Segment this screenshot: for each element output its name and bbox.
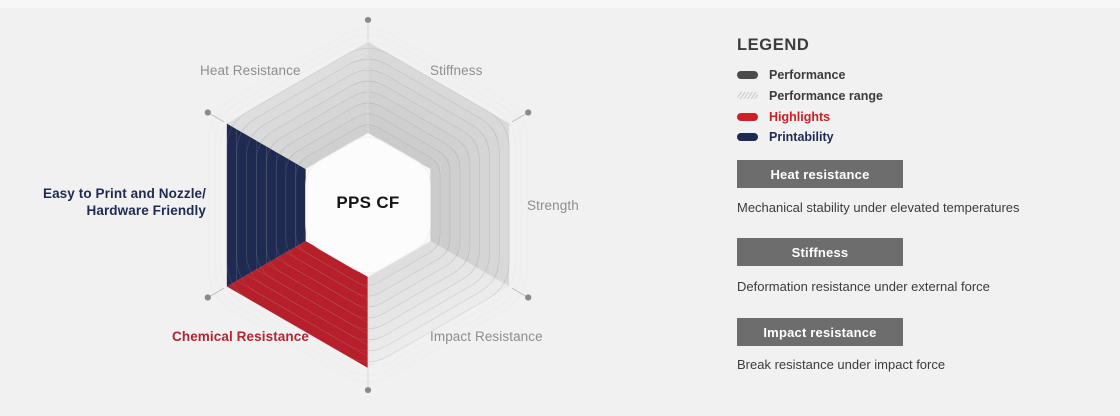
legend-item-performance: Performance [737,66,845,83]
legend-label-performance-range: Performance range [769,89,883,103]
legend-item-performance-range: Performance range [737,87,883,104]
feature-desc-stiffness: Deformation resistance under external fo… [737,279,990,294]
feature-desc-heat-resistance: Mechanical stability under elevated temp… [737,200,1020,215]
feature-desc-impact-resistance: Break resistance under impact force [737,357,945,372]
legend-item-printability: Printability [737,128,834,145]
radar-chart: Heat Resistance Stiffness Strength Impac… [0,0,700,416]
feature-button-heat-resistance[interactable]: Heat resistance [737,160,903,188]
radar-center-label: PPS CF [268,193,468,213]
feature-button-stiffness[interactable]: Stiffness [737,238,903,266]
axis-label-stiffness: Stiffness [430,63,482,80]
axis-label-easy-line1: Easy to Print and Nozzle/ [43,186,206,201]
axis-label-easy-line2: Hardware Friendly [87,203,207,218]
infographic-stage: Heat Resistance Stiffness Strength Impac… [0,0,1120,416]
feature-button-impact-resistance[interactable]: Impact resistance [737,318,903,346]
axis-label-impact-resistance: Impact Resistance [430,329,543,346]
axis-label-easy-to-print: Easy to Print and Nozzle/ Hardware Frien… [40,186,206,220]
legend-label-highlights: Highlights [769,110,830,124]
legend-item-highlights: Highlights [737,108,830,125]
axis-label-heat-resistance: Heat Resistance [200,63,301,80]
legend-swatch-performance-icon [737,71,758,79]
legend-swatch-highlights-icon [737,113,758,121]
legend-label-printability: Printability [769,130,834,144]
legend-swatch-printability-icon [737,133,758,141]
legend-title: LEGEND [737,36,809,55]
axis-label-chemical-resistance: Chemical Resistance [172,329,309,346]
legend-label-performance: Performance [769,68,845,82]
axis-label-strength: Strength [527,198,579,215]
legend-panel: LEGEND Performance Performance range Hig… [737,0,1097,416]
legend-swatch-performance-range-icon [737,92,758,99]
